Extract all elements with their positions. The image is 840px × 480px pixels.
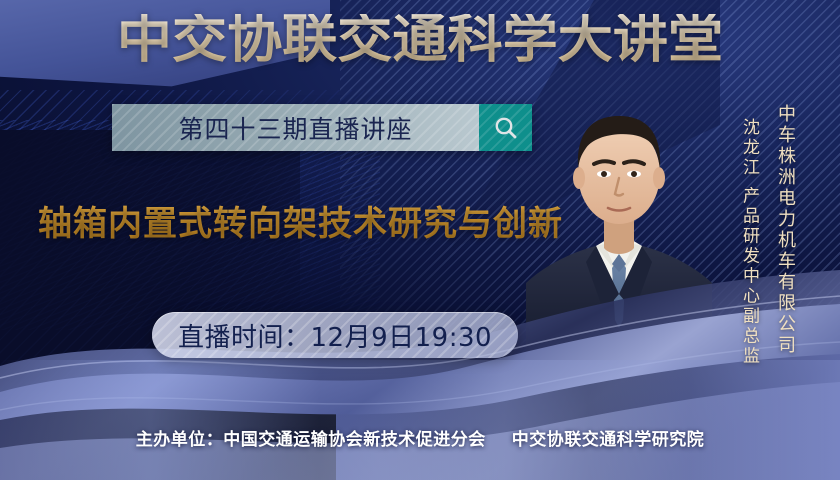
- speaker-company: 中车株洲电力机车有限公司: [772, 104, 798, 356]
- series-label-field[interactable]: 第四十三期直播讲座: [112, 104, 479, 151]
- organizer-primary: 主办单位：中国交通运输协会新技术促进分会: [136, 430, 486, 450]
- lecture-topic: 轴箱内置式转向架技术研究与创新: [38, 196, 563, 245]
- series-search-bar[interactable]: 第四十三期直播讲座: [112, 104, 532, 151]
- broadcast-time-label: 直播时间：12月9日19:30: [178, 317, 492, 354]
- series-label: 第四十三期直播讲座: [178, 110, 412, 146]
- search-button[interactable]: [479, 104, 532, 151]
- live-lecture-poster: 中交协联交通科学大讲堂 第四十三期直播讲座 轴箱内置式转向架技术研究与创新: [0, 0, 840, 480]
- speaker-name-and-title: 沈龙江 产品研发中心副总监: [737, 118, 762, 366]
- organizers-footer: 主办单位：中国交通运输协会新技术促进分会中交协联交通科学研究院: [0, 425, 840, 450]
- broadcast-time-badge: 直播时间：12月9日19:30: [152, 312, 518, 358]
- organizer-secondary: 中交协联交通科学研究院: [512, 430, 705, 450]
- page-title: 中交协联交通科学大讲堂: [0, 14, 840, 66]
- search-icon: [493, 115, 519, 141]
